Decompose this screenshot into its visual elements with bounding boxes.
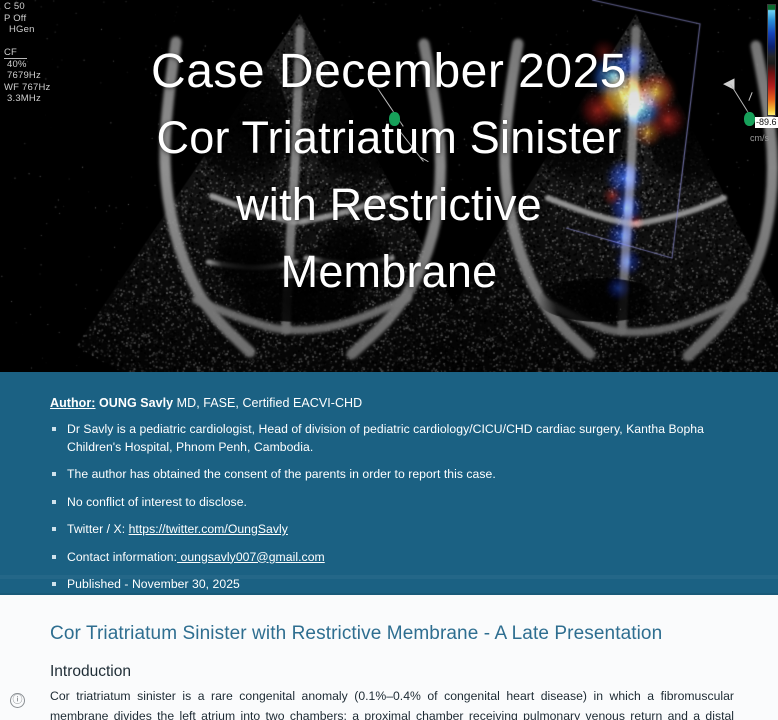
section-title-introduction: Introduction: [50, 662, 734, 682]
article-heading: Cor Triatriatum Sinister with Restrictiv…: [50, 622, 734, 646]
doppler-colorbar-icon: [767, 4, 776, 116]
list-item: Dr Savly is a pediatric cardiologist, He…: [50, 421, 736, 456]
bullet-label-contact: Contact information:: [67, 550, 177, 564]
author-bullet-list: Dr Savly is a pediatric cardiologist, He…: [50, 421, 736, 594]
bullet-text-published: Published - November 30, 2025: [67, 577, 240, 591]
article-section: Cor Triatriatum Sinister with Restrictiv…: [0, 595, 778, 720]
list-item: The author has obtained the consent of t…: [50, 466, 736, 484]
band-divider: [0, 575, 778, 579]
author-info-band: Author: OUNG Savly MD, FASE, Certified E…: [0, 372, 778, 595]
list-item: Twitter / X: https://twitter.com/OungSav…: [50, 521, 736, 539]
hero-banner: C 50 P Off HGen CF 40% 7679Hz WF 767Hz 3…: [0, 0, 778, 372]
list-item: Contact information: oungsavly007@gmail.…: [50, 549, 736, 567]
bullet-text-affiliation: Dr Savly is a pediatric cardiologist, He…: [67, 422, 704, 454]
author-label: Author:: [50, 396, 95, 410]
page-root: C 50 P Off HGen CF 40% 7679Hz WF 767Hz 3…: [0, 0, 778, 720]
list-item: No conflict of interest to disclose.: [50, 494, 736, 512]
echocardiogram-image: [0, 0, 778, 372]
bullet-text-conflict: No conflict of interest to disclose.: [67, 495, 247, 509]
author-line: Author: OUNG Savly MD, FASE, Certified E…: [50, 395, 736, 411]
bullet-text-consent: The author has obtained the consent of t…: [67, 467, 496, 481]
author-email-link[interactable]: oungsavly007@gmail.com: [177, 550, 325, 564]
info-icon[interactable]: ⓘ: [10, 693, 25, 708]
author-credentials: MD, FASE, Certified EACVI-CHD: [173, 396, 362, 410]
author-name: OUNG Savly: [99, 396, 173, 410]
bullet-label-twitter: Twitter / X:: [67, 522, 129, 536]
article-body-paragraph: Cor triatriatum sinister is a rare conge…: [50, 686, 734, 720]
twitter-profile-link[interactable]: https://twitter.com/OungSavly: [129, 522, 288, 536]
